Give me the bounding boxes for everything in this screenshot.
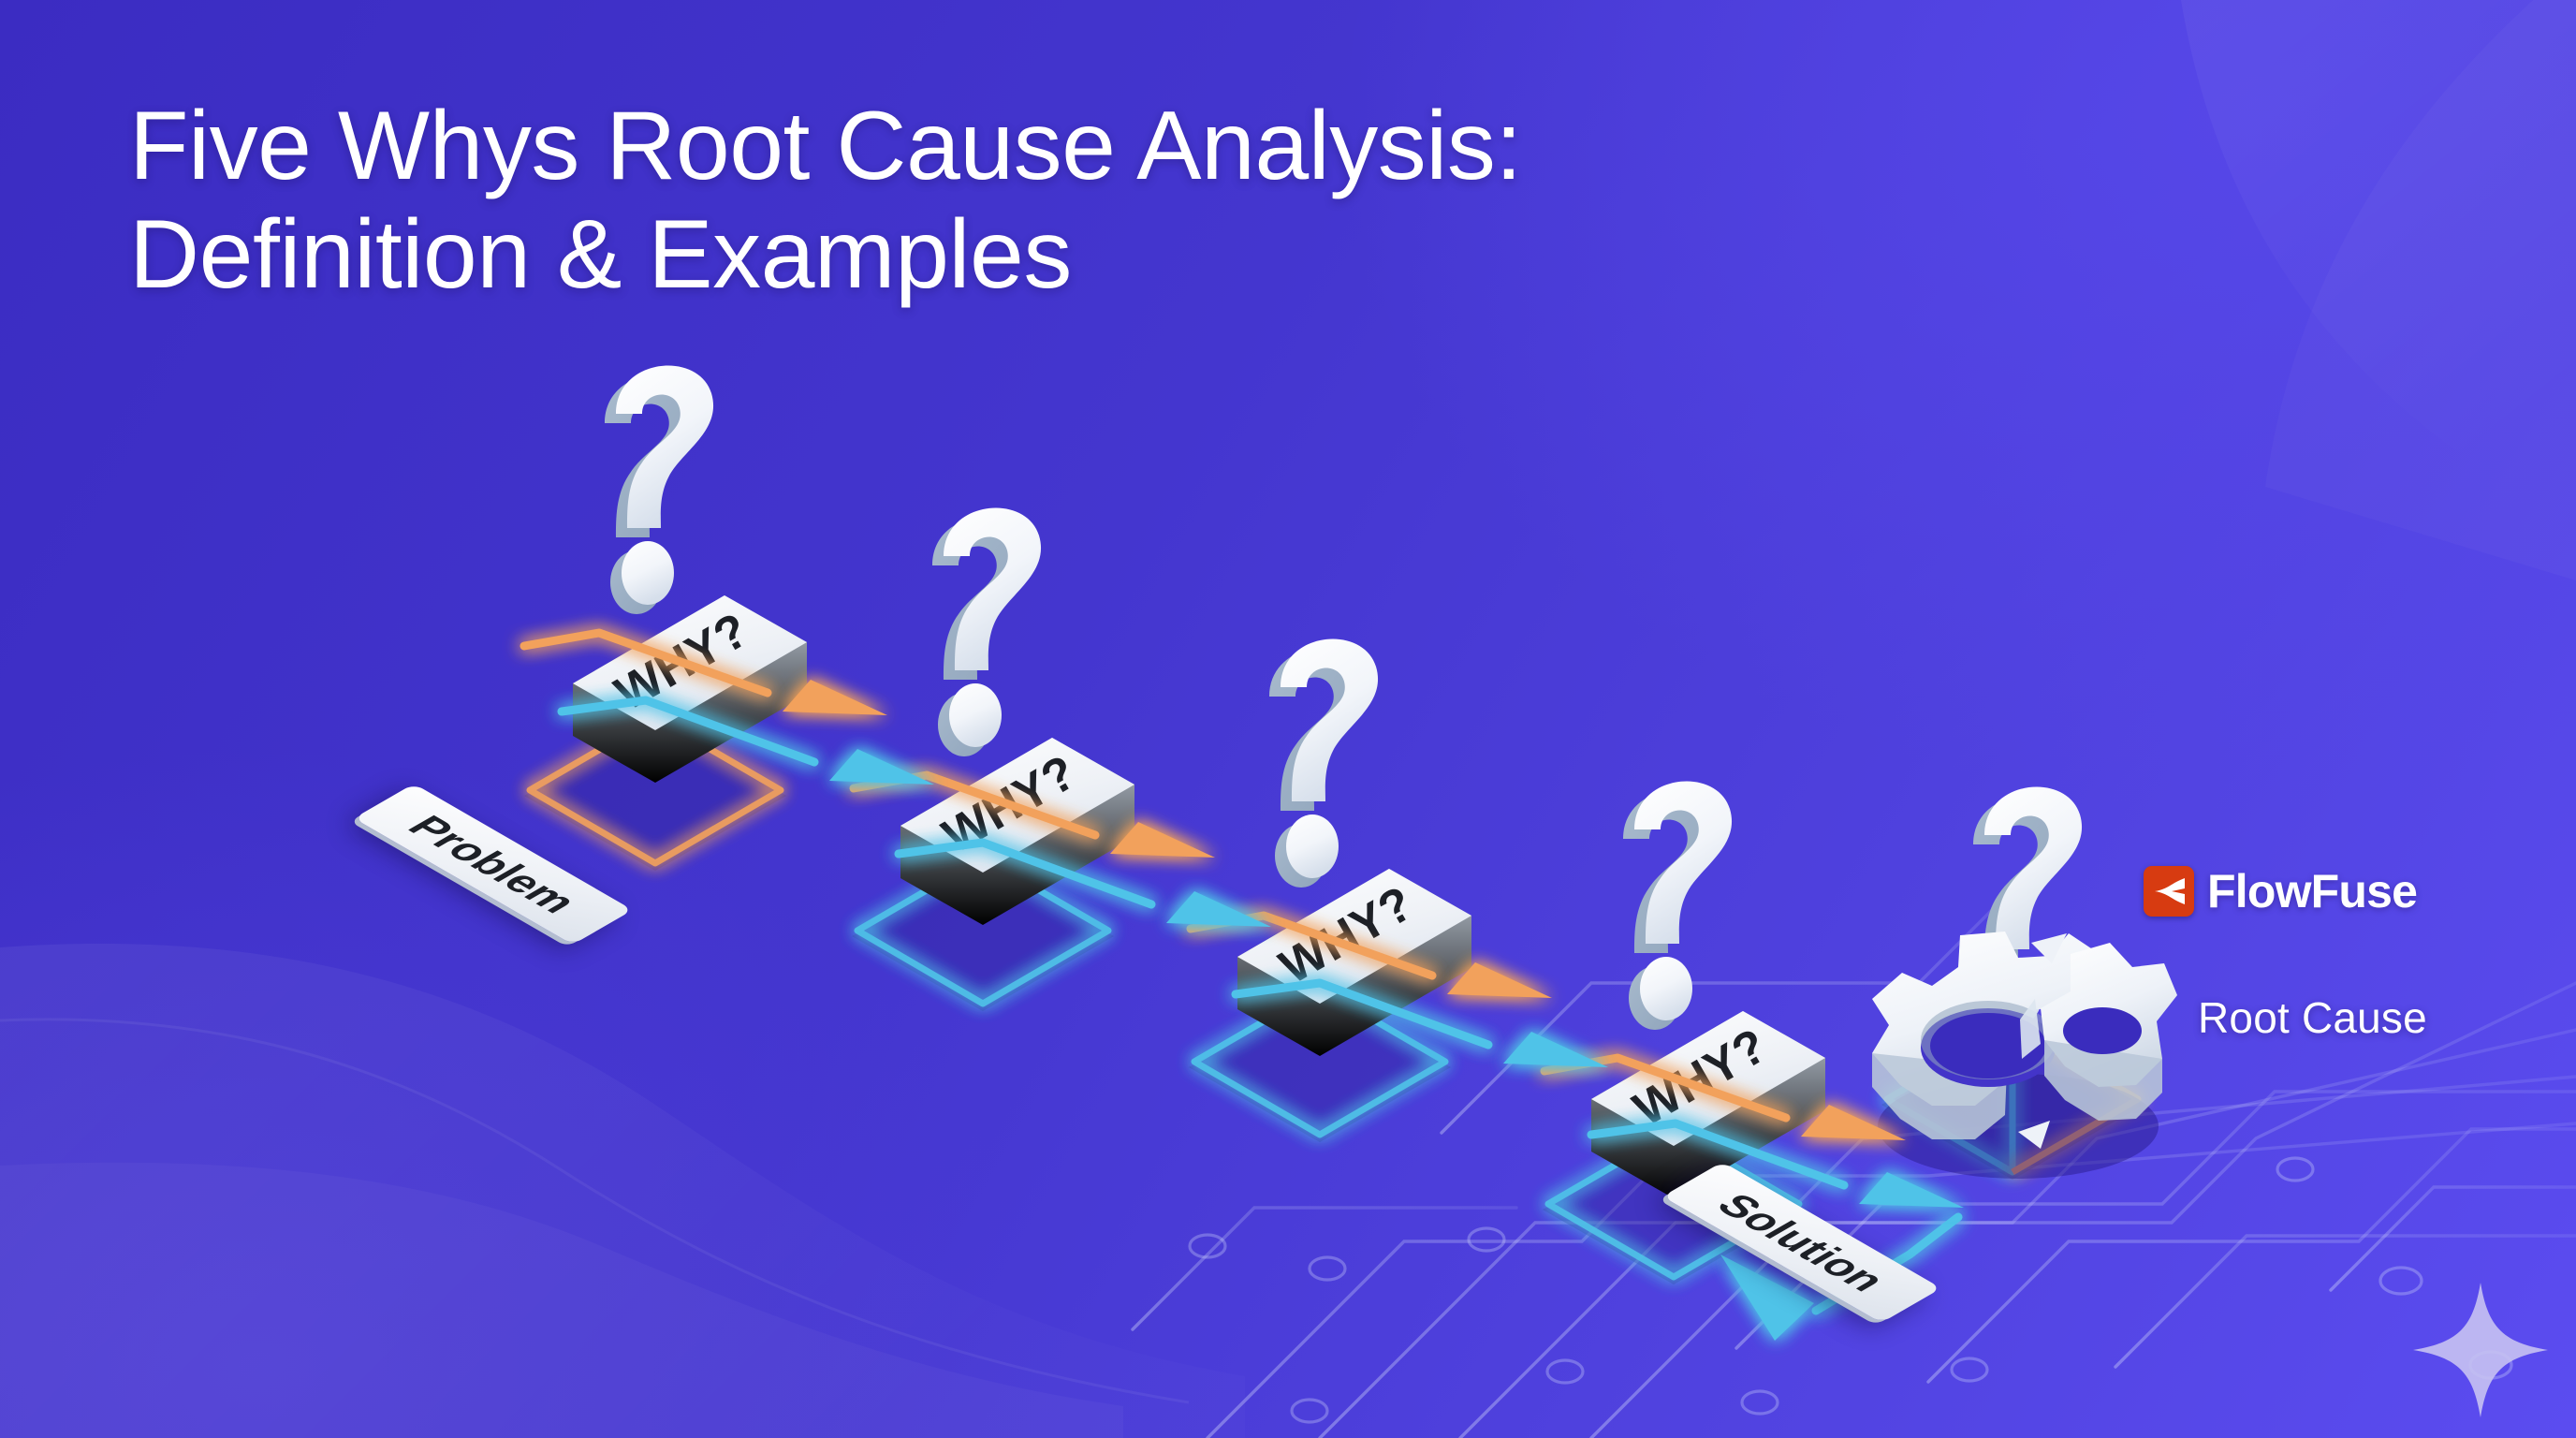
flowfuse-logo-icon xyxy=(2144,866,2194,917)
solution-tag-label: Solution xyxy=(1705,1187,1898,1299)
platform-step-2 xyxy=(852,858,1114,1011)
why-card-3: WHY? xyxy=(1237,869,1471,1056)
wave-band-lower xyxy=(0,944,1245,1438)
root-cause-caption: Root Cause xyxy=(2198,992,2427,1043)
sparkle-icon xyxy=(2413,1283,2548,1417)
platform-step-3 xyxy=(1189,989,1451,1142)
why-card-label-3: WHY? xyxy=(1271,876,1423,995)
flowfuse-wordmark: FlowFuse xyxy=(2207,868,2417,915)
flowfuse-logo[interactable]: FlowFuse xyxy=(2144,866,2417,917)
wave-band-upper xyxy=(0,1163,1123,1438)
why-step-4: WHY? xyxy=(1591,781,1825,1198)
arrow-forward-group xyxy=(524,633,1786,1118)
circuit-traces xyxy=(1133,871,2576,1438)
why-card-label-4: WHY? xyxy=(1625,1019,1777,1137)
arrow-forward-heads xyxy=(783,680,1906,1140)
problem-tag-label: Problem xyxy=(397,808,590,919)
why-step-2: WHY? xyxy=(900,507,1134,925)
platform-step-1 xyxy=(524,717,786,871)
root-cause-question-mark xyxy=(1973,786,2082,1035)
problem-tag: Problem xyxy=(354,784,633,945)
page-title: Five Whys Root Cause Analysis: Definitio… xyxy=(129,92,1720,310)
corner-arc-shape xyxy=(2181,0,2576,524)
why-step-3: WHY? xyxy=(1237,638,1471,1056)
solution-tag: Solution xyxy=(1662,1162,1941,1323)
platform-root-cause xyxy=(1881,1026,2144,1180)
why-card-2: WHY? xyxy=(900,738,1134,925)
poster-canvas: WHY? WHY? xyxy=(0,0,2576,1438)
why-step-1: WHY? xyxy=(573,365,807,783)
why-card-label-2: WHY? xyxy=(934,745,1086,864)
why-card-1: WHY? xyxy=(573,595,807,783)
why-card-label-1: WHY? xyxy=(607,603,758,722)
broken-gear-icon xyxy=(1872,932,2177,1179)
